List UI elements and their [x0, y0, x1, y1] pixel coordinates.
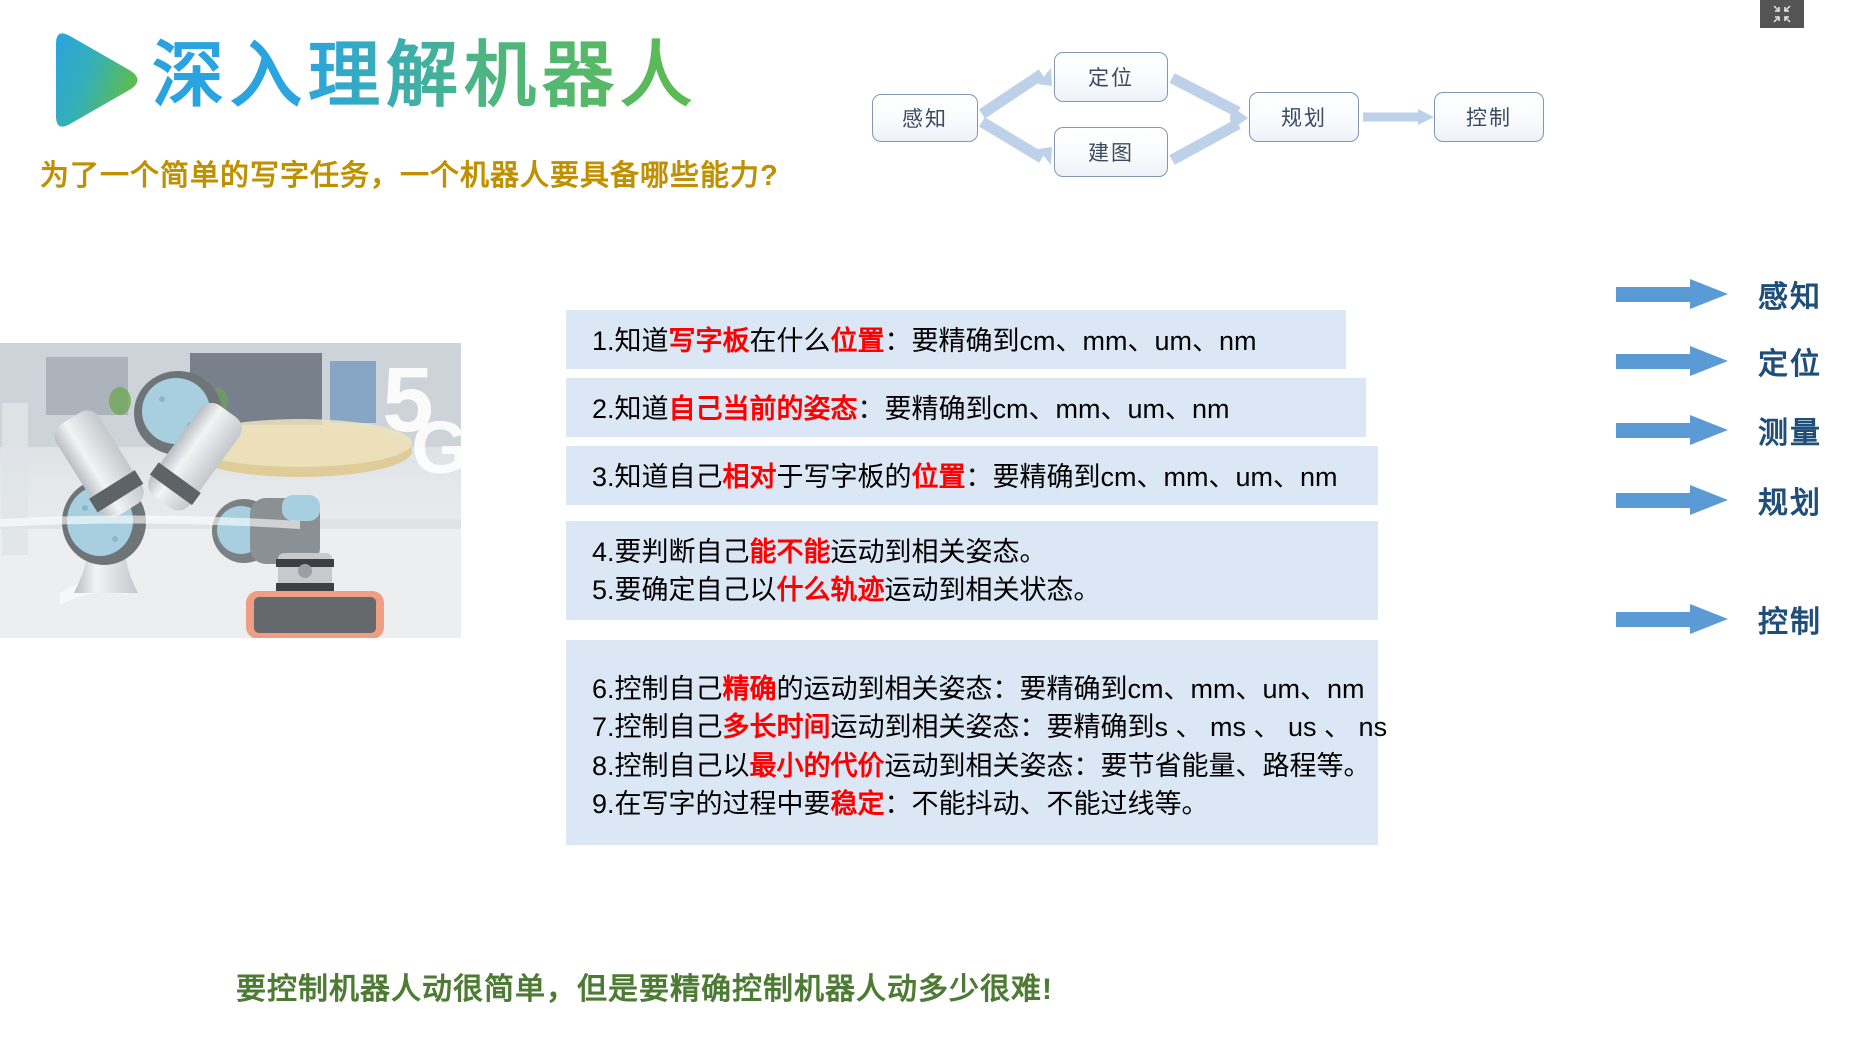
right-arrow-icon [1616, 604, 1728, 634]
capability-row: 感知 [1616, 272, 1822, 316]
requirement-line: 8.控制自己以最小的代价运动到相关姿态：要节省能量、路程等。 [592, 747, 1378, 785]
requirement-line: 5.要确定自己以什么轨迹运动到相关状态。 [592, 571, 1378, 609]
right-arrow-icon [1616, 415, 1728, 445]
requirement-box: 6.控制自己精确的运动到相关姿态：要精确到cm、mm、um、nm7.控制自己多长… [566, 640, 1378, 845]
requirement-line: 3.知道自己相对于写字板的位置：要精确到cm、mm、um、nm [592, 458, 1378, 496]
requirement-line: 4.要判断自己能不能运动到相关姿态。 [592, 533, 1378, 571]
requirement-line: 6.控制自己精确的运动到相关姿态：要精确到cm、mm、um、nm [592, 670, 1378, 708]
plain-text: 于写字板的 [777, 462, 912, 492]
plain-text: 运动到相关姿态：要节省能量、路程等。 [885, 751, 1371, 781]
flow-node-mapping[interactable]: 建图 [1054, 127, 1168, 177]
plain-text: ：要精确到cm、mm、um、nm [858, 394, 1230, 424]
highlighted-keyword: 写字板 [669, 326, 750, 356]
page-subtitle: 为了一个简单的写字任务，一个机器人要具备哪些能力? [40, 152, 779, 194]
requirement-line: 9.在写字的过程中要稳定：不能抖动、不能过线等。 [592, 785, 1378, 823]
highlighted-keyword: 多长时间 [723, 712, 831, 742]
slide-canvas: 深入理解机器人 为了一个简单的写字任务，一个机器人要具备哪些能力? 感知 定位 … [0, 0, 1860, 1061]
right-arrow-icon [1616, 346, 1728, 376]
pipeline-flowchart: 感知 定位 建图 规划 控制 [846, 36, 1586, 201]
requirement-line: 7.控制自己多长时间运动到相关姿态：要精确到s 、 ms 、 us 、 ns [592, 708, 1378, 746]
plain-text: 7.控制自己 [592, 712, 723, 742]
requirement-box: 3.知道自己相对于写字板的位置：要精确到cm、mm、um、nm [566, 446, 1378, 505]
plain-text: 的运动到相关姿态：要精确到cm、mm、um、nm [777, 674, 1365, 704]
plain-text: 4.要判断自己 [592, 537, 750, 567]
capability-row: 测量 [1616, 408, 1822, 452]
capability-label: 感知 [1758, 272, 1822, 316]
highlighted-keyword: 什么轨迹 [777, 575, 885, 605]
play-triangle-logo-icon [38, 24, 142, 136]
capability-label: 规划 [1758, 478, 1822, 522]
requirement-box: 4.要判断自己能不能运动到相关姿态。5.要确定自己以什么轨迹运动到相关状态。 [566, 521, 1378, 620]
highlighted-keyword: 最小的代价 [750, 751, 885, 781]
requirement-box: 1.知道写字板在什么位置：要精确到cm、mm、um、nm [566, 310, 1346, 369]
plain-text: 8.控制自己以 [592, 751, 750, 781]
plain-text: ：不能抖动、不能过线等。 [885, 789, 1209, 819]
highlighted-keyword: 能不能 [750, 537, 831, 567]
right-arrow-icon [1616, 279, 1728, 309]
plain-text: 运动到相关姿态。 [831, 537, 1047, 567]
capability-row: 定位 [1616, 339, 1822, 383]
exit-fullscreen-button[interactable] [1760, 0, 1804, 28]
plain-text: 9.在写字的过程中要 [592, 789, 831, 819]
plain-text: 运动到相关状态。 [885, 575, 1101, 605]
capability-label: 控制 [1758, 597, 1822, 641]
flow-node-planning[interactable]: 规划 [1249, 92, 1359, 142]
plain-text: 6.控制自己 [592, 674, 723, 704]
plain-text: ：要精确到cm、mm、um、nm [885, 326, 1257, 356]
svg-text:G: G [411, 406, 461, 489]
plain-text: 2.知道 [592, 394, 669, 424]
flow-node-localization[interactable]: 定位 [1054, 52, 1168, 102]
plain-text: ：要精确到cm、mm、um、nm [966, 462, 1338, 492]
requirement-line: 1.知道写字板在什么位置：要精确到cm、mm、um、nm [592, 322, 1346, 360]
highlighted-keyword: 精确 [723, 674, 777, 704]
requirement-line: 2.知道自己当前的姿态：要精确到cm、mm、um、nm [592, 390, 1366, 428]
plain-text: 3.知道自己 [592, 462, 723, 492]
plain-text: 运动到相关姿态：要精确到s 、 ms 、 us 、 ns [831, 712, 1388, 742]
capability-row: 规划 [1616, 478, 1822, 522]
capability-row: 控制 [1616, 597, 1822, 641]
capability-label: 测量 [1758, 408, 1822, 452]
plain-text: 在什么 [750, 326, 831, 356]
flow-node-perception[interactable]: 感知 [872, 94, 978, 142]
highlighted-keyword: 自己当前的姿态 [669, 394, 858, 424]
exit-fullscreen-icon [1772, 4, 1792, 24]
page-title: 深入理解机器人 [152, 22, 698, 130]
plain-text: 5.要确定自己以 [592, 575, 777, 605]
flow-node-control[interactable]: 控制 [1434, 92, 1544, 142]
footer-conclusion: 要控制机器人动很简单，但是要精确控制机器人动多少很难! [236, 964, 1053, 1008]
robot-arm-photo: 5 G [0, 343, 461, 638]
highlighted-keyword: 位置 [912, 462, 966, 492]
right-arrow-icon [1616, 485, 1728, 515]
capability-label: 定位 [1758, 339, 1822, 383]
requirement-box: 2.知道自己当前的姿态：要精确到cm、mm、um、nm [566, 378, 1366, 437]
highlighted-keyword: 稳定 [831, 789, 885, 819]
highlighted-keyword: 位置 [831, 326, 885, 356]
highlighted-keyword: 相对 [723, 462, 777, 492]
plain-text: 1.知道 [592, 326, 669, 356]
